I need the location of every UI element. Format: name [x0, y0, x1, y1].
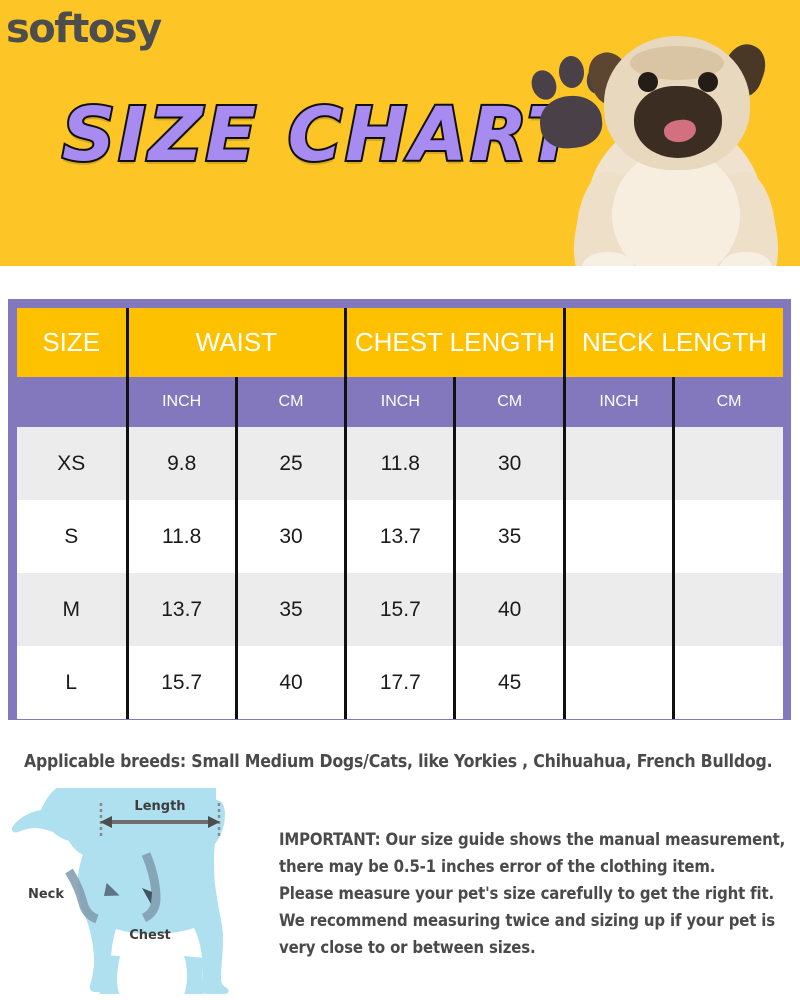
header-size: SIZE [17, 308, 127, 377]
cell-waist-cm: 30 [236, 500, 345, 573]
cell-neck-cm [674, 500, 783, 573]
unit-header-chest-cm: CM [455, 377, 564, 427]
table-row: M 13.7 35 15.7 40 [17, 573, 783, 646]
pug-photo [538, 0, 800, 266]
cell-chest-inch: 11.8 [346, 427, 455, 500]
cell-chest-cm: 30 [455, 427, 564, 500]
unit-header-blank [17, 377, 127, 427]
cell-waist-inch: 11.8 [127, 500, 236, 573]
cell-waist-cm: 40 [236, 646, 345, 719]
table-row: L 15.7 40 17.7 45 [17, 646, 783, 719]
header-chest-length: CHEST LENGTH [346, 308, 565, 377]
brand-logo: softosy [6, 6, 161, 52]
note-line-3: Please measure your pet's size carefully… [279, 880, 789, 907]
cell-neck-cm [674, 646, 783, 719]
header-neck-length: NECK LENGTH [564, 308, 783, 377]
cell-neck-inch [564, 500, 673, 573]
cell-waist-inch: 15.7 [127, 646, 236, 719]
unit-header-neck-inch: INCH [564, 377, 673, 427]
cell-chest-cm: 35 [455, 500, 564, 573]
table-row: S 11.8 30 13.7 35 [17, 500, 783, 573]
cell-chest-cm: 45 [455, 646, 564, 719]
cell-size: XS [17, 427, 127, 500]
size-chart-table-container: SIZE WAIST CHEST LENGTH NECK LENGTH INCH… [8, 299, 791, 720]
cell-neck-inch [564, 573, 673, 646]
unit-header-waist-cm: CM [236, 377, 345, 427]
note-line-4: We recommend measuring twice and sizing … [279, 907, 789, 934]
note-line-1: IMPORTANT: Our size guide shows the manu… [279, 826, 789, 853]
cell-chest-inch: 13.7 [346, 500, 455, 573]
cell-waist-inch: 9.8 [127, 427, 236, 500]
header-waist: WAIST [127, 308, 346, 377]
cell-chest-cm: 40 [455, 573, 564, 646]
cell-size: S [17, 500, 127, 573]
cell-waist-inch: 13.7 [127, 573, 236, 646]
note-line-5: very close to or between sizes. [279, 934, 789, 961]
diagram-label-chest: Chest [129, 928, 171, 943]
unit-header-waist-inch: INCH [127, 377, 236, 427]
cell-neck-inch [564, 646, 673, 719]
hero-banner: softosy SIZE CHART [0, 0, 800, 266]
table-unit-header-row: INCH CM INCH CM INCH CM [17, 377, 783, 427]
cell-size: L [17, 646, 127, 719]
unit-header-chest-inch: INCH [346, 377, 455, 427]
cell-neck-inch [564, 427, 673, 500]
cell-chest-inch: 15.7 [346, 573, 455, 646]
table-row: XS 9.8 25 11.8 30 [17, 427, 783, 500]
note-line-2: there may be 0.5-1 inches error of the c… [279, 853, 789, 880]
page-title: SIZE CHART [62, 92, 580, 178]
applicable-breeds-text: Applicable breeds: Small Medium Dogs/Cat… [24, 752, 784, 772]
diagram-label-neck: Neck [28, 887, 64, 902]
unit-header-neck-cm: CM [674, 377, 783, 427]
cell-chest-inch: 17.7 [346, 646, 455, 719]
cell-waist-cm: 35 [236, 573, 345, 646]
diagram-label-length: Length [134, 799, 185, 814]
size-chart-table: SIZE WAIST CHEST LENGTH NECK LENGTH INCH… [17, 308, 783, 719]
important-note: IMPORTANT: Our size guide shows the manu… [279, 826, 789, 961]
cell-waist-cm: 25 [236, 427, 345, 500]
dog-measurement-diagram: Length Neck Chest [8, 788, 266, 994]
cell-neck-cm [674, 427, 783, 500]
cell-size: M [17, 573, 127, 646]
cell-neck-cm [674, 573, 783, 646]
table-group-header-row: SIZE WAIST CHEST LENGTH NECK LENGTH [17, 308, 783, 377]
